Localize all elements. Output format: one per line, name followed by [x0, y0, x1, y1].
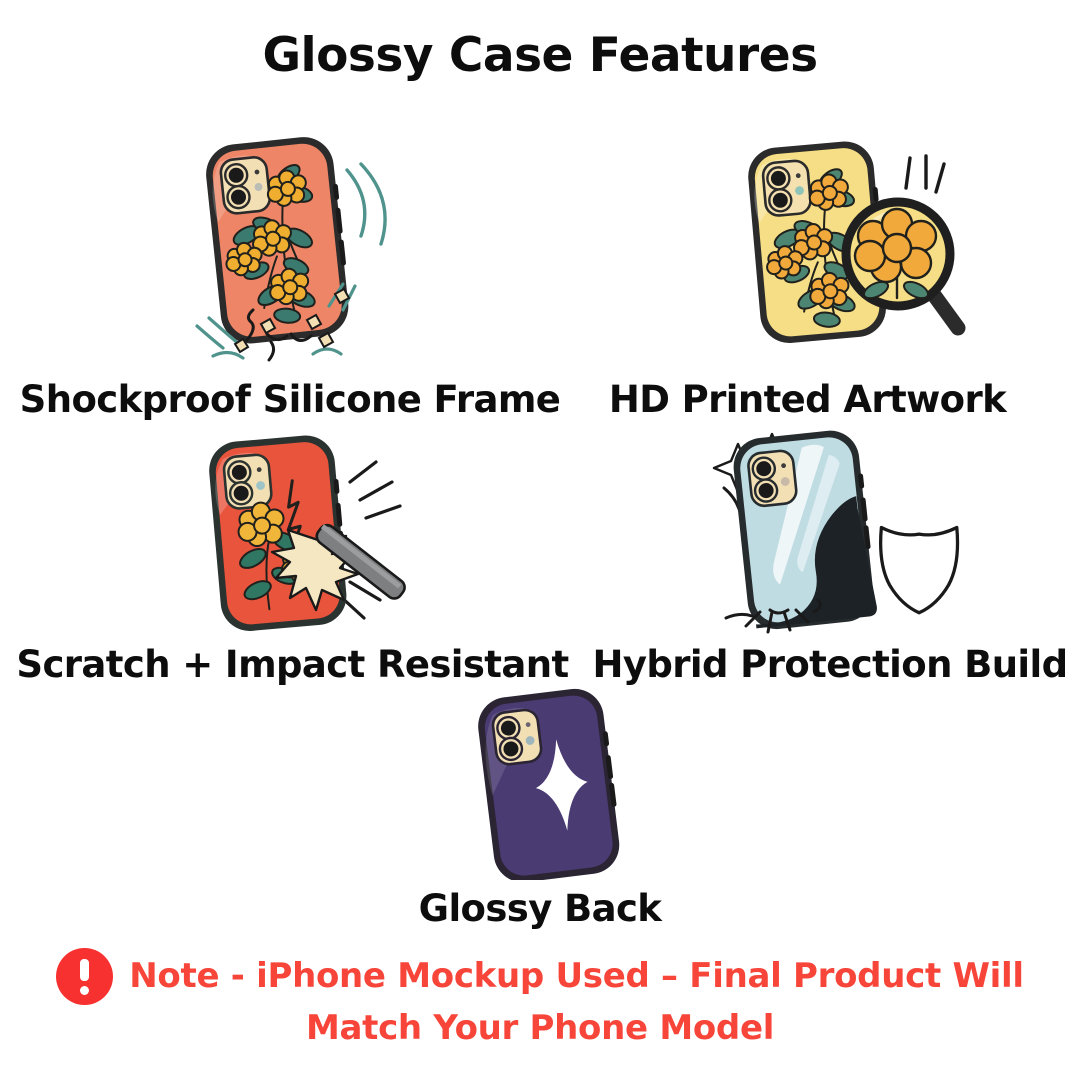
- feature-scratch-impact: Scratch + Impact Resistant: [5, 420, 580, 685]
- feature-label-scratch-impact: Scratch + Impact Resistant: [5, 646, 580, 685]
- page-title: Glossy Case Features: [0, 30, 1080, 82]
- feature-label-hybrid-protection: Hybrid Protection Build: [590, 646, 1070, 685]
- exclamation-circle-icon: [56, 948, 113, 1005]
- feature-label-glossy-back: Glossy Back: [270, 890, 810, 929]
- feature-glossy-back: Glossy Back: [270, 685, 810, 929]
- phone-case-red-floral-with-blade-strike-icon: [5, 420, 580, 640]
- note-line-1: Note - iPhone Mockup Used – Final Produc…: [129, 955, 1023, 998]
- feature-shockproof: Shockproof Silicone Frame: [10, 128, 570, 420]
- disclaimer-note: Note - iPhone Mockup Used – Final Produc…: [0, 948, 1080, 1050]
- phone-case-purple-glossy-with-sparkle-icon: [270, 685, 810, 880]
- feature-hybrid-protection: Hybrid Protection Build: [590, 420, 1070, 685]
- note-line-2: Match Your Phone Model: [0, 1007, 1080, 1050]
- feature-infographic: Glossy Case Features: [0, 0, 1080, 1080]
- feature-hd-artwork: HD Printed Artwork: [545, 128, 1070, 420]
- phone-case-yellow-floral-with-magnifier-icon: [545, 128, 1070, 373]
- phone-case-blue-black-hybrid-with-shield-icon: [590, 420, 1070, 640]
- phone-case-coral-floral-with-impact-lines-icon: [10, 128, 570, 373]
- feature-label-hd-artwork: HD Printed Artwork: [545, 381, 1070, 420]
- feature-label-shockproof: Shockproof Silicone Frame: [10, 381, 570, 420]
